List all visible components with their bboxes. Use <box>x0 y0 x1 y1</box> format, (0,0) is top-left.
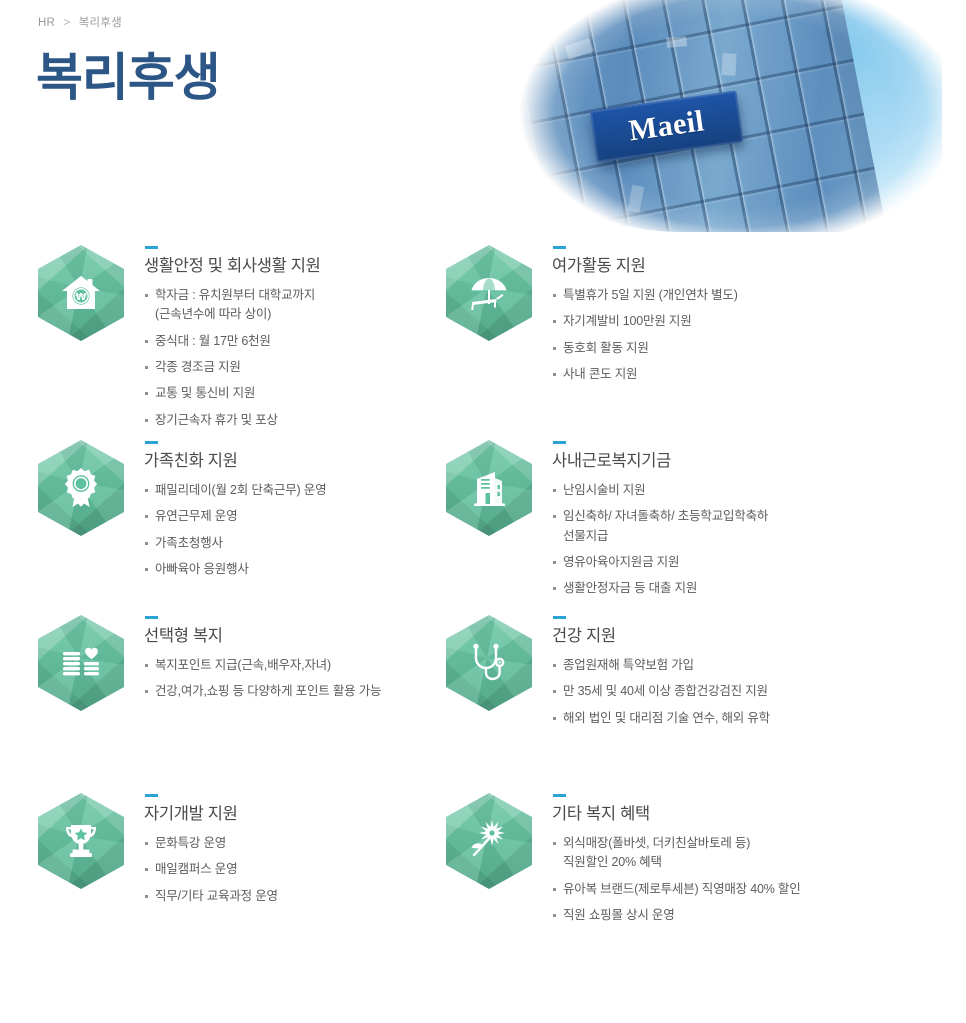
trophy-icon <box>38 793 124 889</box>
list-item: 종업원재해 특약보험 가입 <box>552 656 966 675</box>
breadcrumb: HR > 복리후생 <box>38 14 122 30</box>
list-item: 유연근무제 운영 <box>144 507 410 526</box>
list-item: 학자금 : 유치원부터 대학교까지 (근속년수에 따라 상이) <box>144 286 410 325</box>
benefit-item-list: 복지포인트 지급(근속,배우자,자녀) 건강,여가,쇼핑 등 다양하게 포인트 … <box>144 656 410 702</box>
benefit-title: 자기개발 지원 <box>144 805 410 825</box>
benefit-body: 선택형 복지 복지포인트 지급(근속,배우자,자녀) 건강,여가,쇼핑 등 다양… <box>124 613 410 709</box>
list-item: 난임시술비 지원 <box>552 481 966 500</box>
benefit-title: 선택형 복지 <box>144 627 410 647</box>
benefit-title: 가족친화 지원 <box>144 452 410 472</box>
benefit-card-other-benefits: 기타 복지 혜택 외식매장(폴바셋, 더키친살바토레 등) 직원할인 20% 혜… <box>428 791 966 1023</box>
title-rule <box>145 794 158 797</box>
list-item: 영유아육아지원금 지원 <box>552 553 966 572</box>
list-item: 복지포인트 지급(근속,배우자,자녀) <box>144 656 410 675</box>
list-item: 문화특강 운영 <box>144 834 410 853</box>
page-title: 복리후생 <box>36 50 220 106</box>
benefit-body: 가족친화 지원 패밀리데이(월 2회 단축근무) 운영 유연근무제 운영 가족초… <box>124 438 410 586</box>
list-item: 유아복 브랜드(제로투세븐) 직영매장 40% 할인 <box>552 880 966 899</box>
list-item: 직무/기타 교육과정 운영 <box>144 887 410 906</box>
list-item: 아빠육아 응원행사 <box>144 560 410 579</box>
benefit-icon-wrap <box>38 440 124 536</box>
list-item: 동호회 활동 지원 <box>552 339 966 358</box>
building-photo: Maeil <box>494 0 942 232</box>
beach-umbrella-icon <box>446 245 532 341</box>
list-item: 만 35세 및 40세 이상 종합건강검진 지원 <box>552 682 966 701</box>
award-rosette-icon <box>38 440 124 536</box>
benefit-title: 생활안정 및 회사생활 지원 <box>144 257 410 277</box>
breadcrumb-current: 복리후생 <box>79 17 122 29</box>
title-rule <box>145 441 158 444</box>
maeil-sign-text: Maeil <box>627 106 706 146</box>
benefit-item-list: 종업원재해 특약보험 가입 만 35세 및 40세 이상 종합건강검진 지원 해… <box>552 656 966 728</box>
list-item: 사내 콘도 지원 <box>552 365 966 384</box>
benefit-title: 사내근로복지기금 <box>552 452 966 472</box>
list-item: 가족초청행사 <box>144 534 410 553</box>
benefit-icon-wrap <box>38 615 124 711</box>
list-item: 생활안정자금 등 대출 지원 <box>552 579 966 598</box>
benefit-icon-wrap <box>446 440 532 536</box>
list-item: 해외 법인 및 대리점 기술 연수, 해외 유학 <box>552 709 966 728</box>
list-item: 교통 및 통신비 지원 <box>144 384 410 403</box>
title-rule <box>553 794 566 797</box>
hero-image: Maeil <box>494 0 942 232</box>
svg-text:₩: ₩ <box>75 292 86 303</box>
coin-stacks-heart-icon <box>38 615 124 711</box>
benefit-card-living-support: ₩ 생활안정 및 회사생활 지원 학자금 : 유치원부터 대학교까지 (근속년수… <box>0 243 410 438</box>
benefit-icon-wrap <box>446 615 532 711</box>
breadcrumb-separator: > <box>63 17 70 29</box>
benefits-grid: ₩ 생활안정 및 회사생활 지원 학자금 : 유치원부터 대학교까지 (근속년수… <box>0 243 966 1023</box>
benefit-item-list: 문화특강 운영 매일캠퍼스 운영 직무/기타 교육과정 운영 <box>144 834 410 906</box>
list-item: 외식매장(폴바셋, 더키친살바토레 등) 직원할인 20% 혜택 <box>552 834 966 873</box>
benefit-title: 여가활동 지원 <box>552 257 966 277</box>
benefit-body: 사내근로복지기금 난임시술비 지원 임신축하/ 자녀돌축하/ 초등학교입학축하 … <box>532 438 966 606</box>
benefit-item-list: 패밀리데이(월 2회 단축근무) 운영 유연근무제 운영 가족초청행사 아빠육아… <box>144 481 410 580</box>
list-item: 임신축하/ 자녀돌축하/ 초등학교입학축하 선물지급 <box>552 507 966 546</box>
list-item: 매일캠퍼스 운영 <box>144 860 410 879</box>
title-rule <box>553 246 566 249</box>
benefit-card-welfare-fund: 사내근로복지기금 난임시술비 지원 임신축하/ 자녀돌축하/ 초등학교입학축하 … <box>428 438 966 633</box>
glass-reflection <box>721 53 736 76</box>
benefit-item-list: 외식매장(폴바셋, 더키친살바토레 등) 직원할인 20% 혜택 유아복 브랜드… <box>552 834 966 926</box>
benefit-icon-wrap: ₩ <box>38 245 124 341</box>
benefit-title: 건강 지원 <box>552 627 966 647</box>
title-rule <box>145 246 158 249</box>
list-item: 건강,여가,쇼핑 등 다양하게 포인트 활용 가능 <box>144 682 410 701</box>
benefit-icon-wrap <box>446 245 532 341</box>
benefit-card-self-development: 자기개발 지원 문화특강 운영 매일캠퍼스 운영 직무/기타 교육과정 운영 <box>0 791 410 1023</box>
benefit-icon-wrap <box>446 793 532 889</box>
list-item: 자기계발비 100만원 지원 <box>552 312 966 331</box>
benefit-body: 생활안정 및 회사생활 지원 학자금 : 유치원부터 대학교까지 (근속년수에 … <box>124 243 410 437</box>
benefit-body: 건강 지원 종업원재해 특약보험 가입 만 35세 및 40세 이상 종합건강검… <box>532 613 966 735</box>
list-item: 패밀리데이(월 2회 단축근무) 운영 <box>144 481 410 500</box>
title-rule <box>145 616 158 619</box>
title-rule <box>553 441 566 444</box>
benefit-title: 기타 복지 혜택 <box>552 805 966 825</box>
benefit-body: 여가활동 지원 특별휴가 5일 지원 (개인연차 별도) 자기계발비 100만원… <box>532 243 966 391</box>
benefit-item-list: 난임시술비 지원 임신축하/ 자녀돌축하/ 초등학교입학축하 선물지급 영유아육… <box>552 481 966 599</box>
benefit-card-family-friendly: 가족친화 지원 패밀리데이(월 2회 단축근무) 운영 유연근무제 운영 가족초… <box>0 438 410 633</box>
title-rule <box>553 616 566 619</box>
stethoscope-icon <box>446 615 532 711</box>
list-item: 중식대 : 월 17만 6천원 <box>144 332 410 351</box>
breadcrumb-root[interactable]: HR <box>38 17 55 29</box>
office-building-icon <box>446 440 532 536</box>
house-won-icon: ₩ <box>38 245 124 341</box>
flower-icon <box>446 793 532 889</box>
benefit-icon-wrap <box>38 793 124 889</box>
benefit-item-list: 학자금 : 유치원부터 대학교까지 (근속년수에 따라 상이) 중식대 : 월 … <box>144 286 410 430</box>
benefit-body: 자기개발 지원 문화특강 운영 매일캠퍼스 운영 직무/기타 교육과정 운영 <box>124 791 410 913</box>
benefit-body: 기타 복지 혜택 외식매장(폴바셋, 더키친살바토레 등) 직원할인 20% 혜… <box>532 791 966 932</box>
benefit-card-leisure-support: 여가활동 지원 특별휴가 5일 지원 (개인연차 별도) 자기계발비 100만원… <box>428 243 966 438</box>
glass-reflection <box>666 36 687 48</box>
list-item: 특별휴가 5일 지원 (개인연차 별도) <box>552 286 966 305</box>
list-item: 각종 경조금 지원 <box>144 358 410 377</box>
list-item: 장기근속자 휴가 및 포상 <box>144 411 410 430</box>
benefit-item-list: 특별휴가 5일 지원 (개인연차 별도) 자기계발비 100만원 지원 동호회 … <box>552 286 966 385</box>
